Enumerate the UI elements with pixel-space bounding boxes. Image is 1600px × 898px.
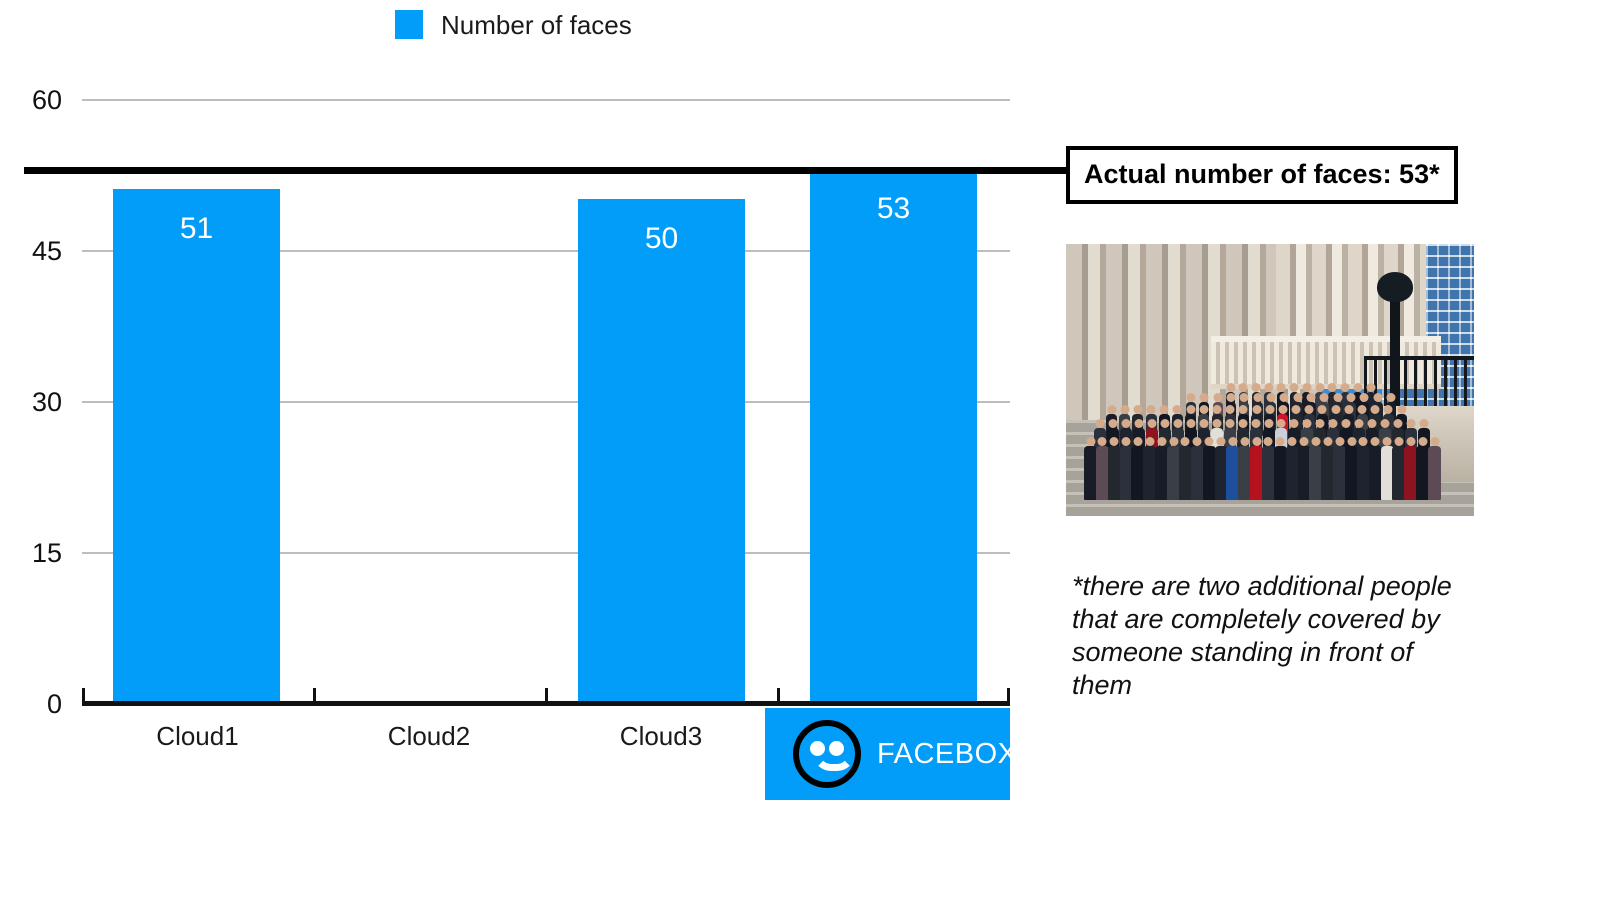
smiley-mouth-icon xyxy=(813,750,855,771)
x-tick-4 xyxy=(1007,688,1010,702)
reference-line-actual-faces xyxy=(24,167,1068,174)
footnote-text: *there are two additional people that ar… xyxy=(1072,570,1472,702)
gridline-60 xyxy=(82,99,1010,101)
x-tick-3 xyxy=(777,688,780,702)
y-axis-labels: 60 45 30 15 0 xyxy=(0,0,70,810)
bar-value-cloud3: 50 xyxy=(578,223,745,255)
y-tick-label-45: 45 xyxy=(0,238,62,265)
x-category-label-cloud3: Cloud3 xyxy=(545,722,777,750)
x-category-label-facebox-logo: FACEBOX xyxy=(765,708,1010,800)
callout-actual-number-of-faces: Actual number of faces: 53* xyxy=(1066,146,1458,204)
photo-lamp-post xyxy=(1390,290,1400,410)
facebox-brand-label: FACEBOX xyxy=(877,739,1018,769)
congress-group-photo xyxy=(1066,244,1474,516)
x-category-label-cloud1: Cloud1 xyxy=(82,722,313,750)
x-tick-0 xyxy=(82,688,85,702)
x-tick-2 xyxy=(545,688,548,702)
bar-value-facebox: 53 xyxy=(810,193,977,225)
chart-page: Number of faces 60 45 30 15 0 51 50 53 xyxy=(0,0,1600,898)
smiley-face-icon xyxy=(793,720,861,788)
bar-cloud3[interactable]: 50 xyxy=(578,199,745,703)
x-tick-1 xyxy=(313,688,316,702)
bar-chart-plot-area: 60 45 30 15 0 51 50 53 Cloud1 Cloud2 Clo… xyxy=(0,0,1030,810)
x-category-label-cloud2: Cloud2 xyxy=(313,722,545,750)
y-tick-label-15: 15 xyxy=(0,540,62,567)
bar-facebox[interactable]: 53 xyxy=(810,169,977,703)
y-tick-label-30: 30 xyxy=(0,389,62,416)
bar-cloud1[interactable]: 51 xyxy=(113,189,280,703)
y-tick-label-60: 60 xyxy=(0,87,62,114)
y-tick-label-0: 0 xyxy=(0,691,62,718)
bar-value-cloud1: 51 xyxy=(113,213,280,245)
